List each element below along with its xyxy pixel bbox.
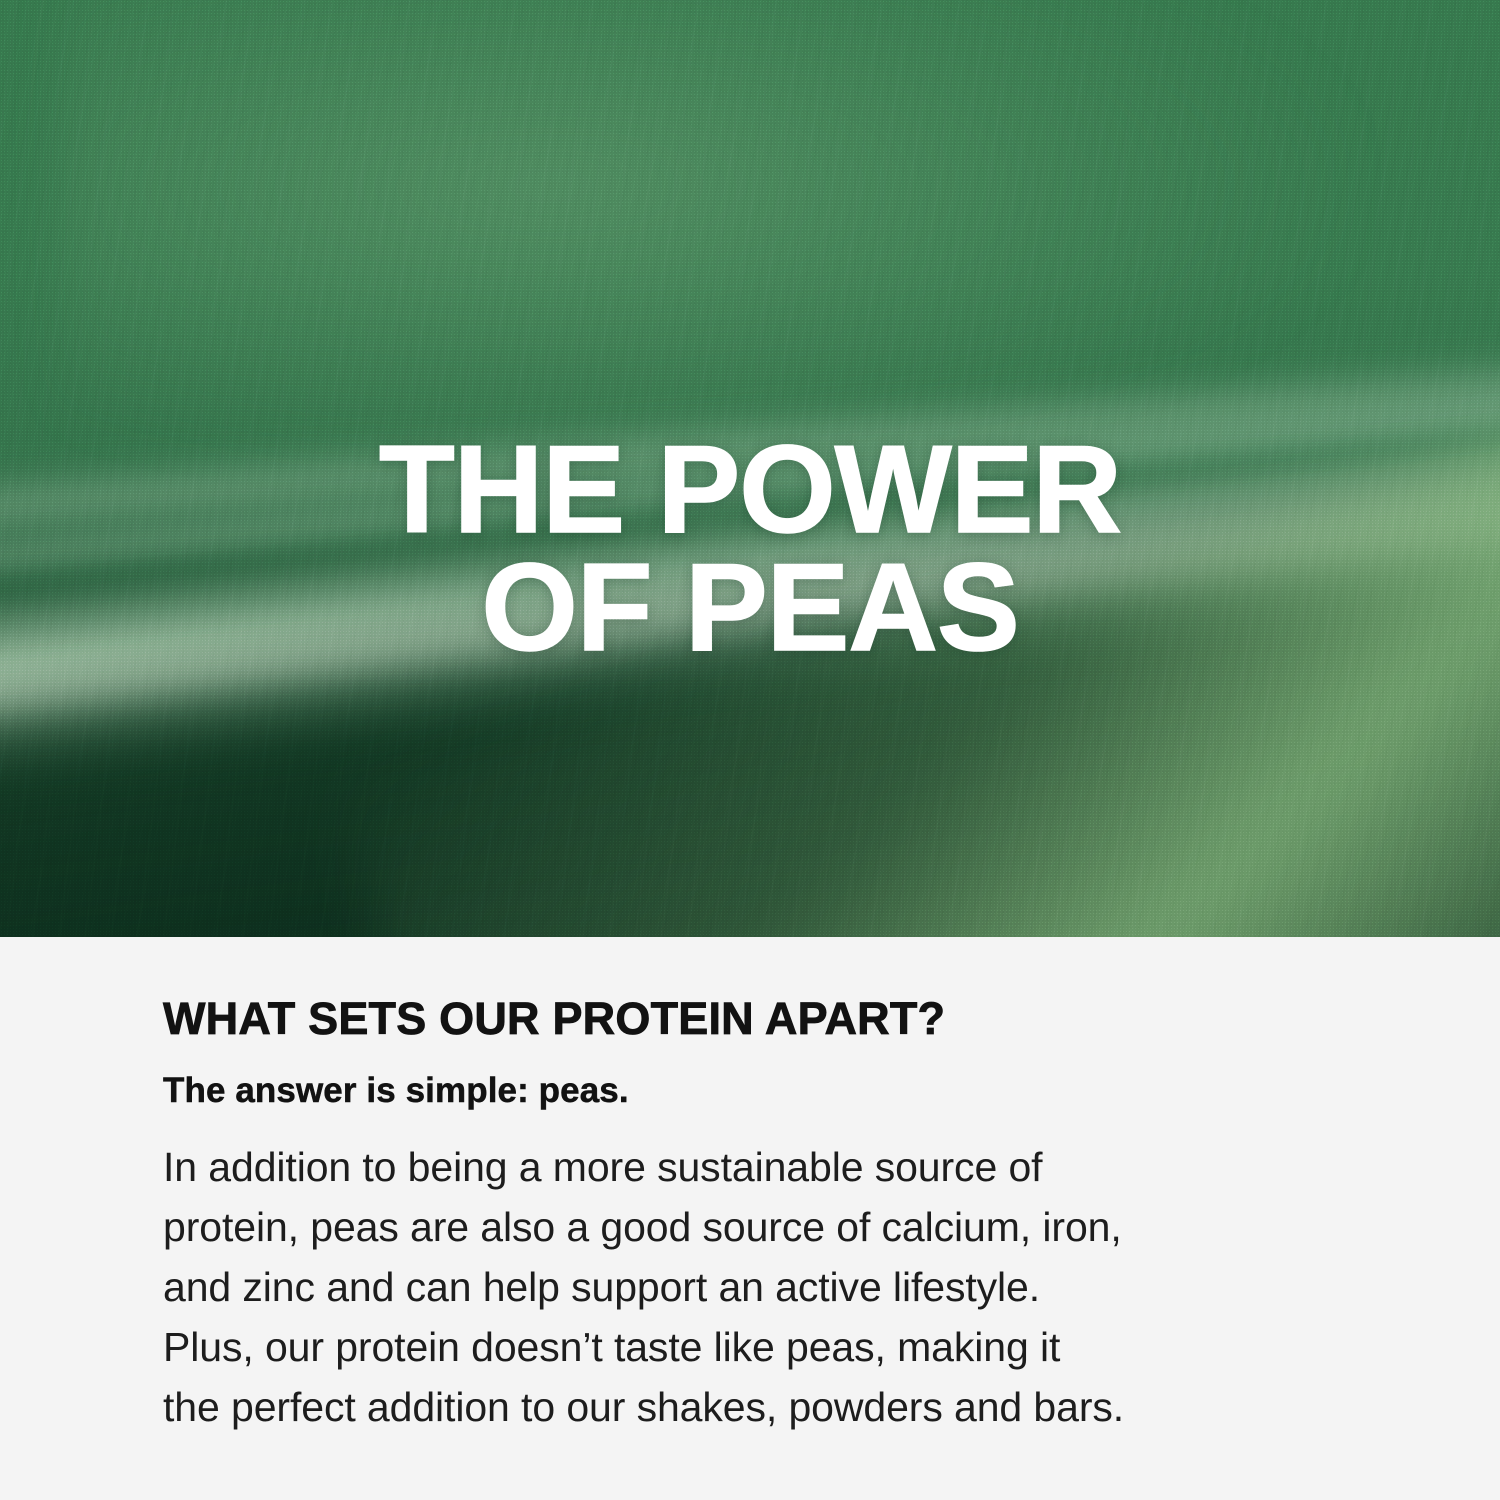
content-section: WHAT SETS OUR PROTEIN APART? The answer … — [0, 937, 1500, 1500]
hero-banner: THE POWER OF PEAS — [0, 0, 1500, 937]
hero-headline-line-2: OF PEAS — [0, 549, 1500, 667]
body-copy: In addition to being a more sustainable … — [163, 1137, 1363, 1437]
product-detail-page: THE POWER OF PEAS WHAT SETS OUR PROTEIN … — [0, 0, 1500, 1500]
section-subheading: The answer is simple: peas. — [163, 1071, 1383, 1111]
body-copy-line-5: the perfect addition to our shakes, powd… — [163, 1377, 1363, 1437]
hero-headline-line-1: THE POWER — [0, 431, 1500, 549]
content-inner: WHAT SETS OUR PROTEIN APART? The answer … — [163, 993, 1383, 1437]
body-copy-line-4: Plus, our protein doesn’t taste like pea… — [163, 1317, 1363, 1377]
body-copy-line-1: In addition to being a more sustainable … — [163, 1137, 1363, 1197]
section-heading: WHAT SETS OUR PROTEIN APART? — [163, 993, 1383, 1045]
body-copy-line-2: protein, peas are also a good source of … — [163, 1197, 1363, 1257]
body-copy-line-3: and zinc and can help support an active … — [163, 1257, 1363, 1317]
hero-headline: THE POWER OF PEAS — [0, 431, 1500, 667]
